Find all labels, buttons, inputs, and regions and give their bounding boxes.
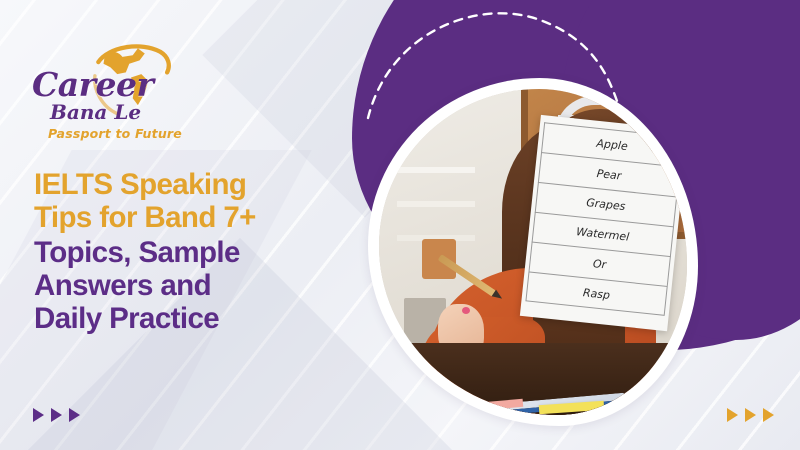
- triangle-right-icon: [745, 408, 756, 422]
- photo-image: Apple Pear Grapes Watermel Or Rasp: [379, 89, 687, 415]
- headline-line-2: Tips for Band 7+: [34, 201, 364, 234]
- brand-logo[interactable]: Career Bana Le Passport to Future: [26, 42, 196, 142]
- headline-line-3: Topics, Sample: [34, 236, 364, 269]
- triangle-right-icon: [51, 408, 62, 422]
- desk: [379, 343, 687, 415]
- hero-photo: Apple Pear Grapes Watermel Or Rasp: [368, 78, 698, 426]
- headline-line-5: Daily Practice: [34, 302, 364, 335]
- arrow-group-left: [33, 408, 80, 422]
- brand-tagline: Passport to Future: [48, 126, 182, 141]
- arrow-group-right: [727, 408, 774, 422]
- fruit-word-list: Apple Pear Grapes Watermel Or Rasp: [520, 114, 687, 330]
- headline-line-1: IELTS Speaking: [34, 168, 364, 201]
- banner-canvas: Apple Pear Grapes Watermel Or Rasp Caree…: [0, 0, 800, 450]
- triangle-right-icon: [33, 408, 44, 422]
- brand-name-primary: Career: [32, 68, 153, 101]
- headline-line-4: Answers and: [34, 269, 364, 302]
- headline-block: IELTS Speaking Tips for Band 7+ Topics, …: [34, 168, 364, 335]
- triangle-right-icon: [69, 408, 80, 422]
- triangle-right-icon: [763, 408, 774, 422]
- brand-name-secondary: Bana Le: [50, 102, 141, 122]
- triangle-right-icon: [727, 408, 738, 422]
